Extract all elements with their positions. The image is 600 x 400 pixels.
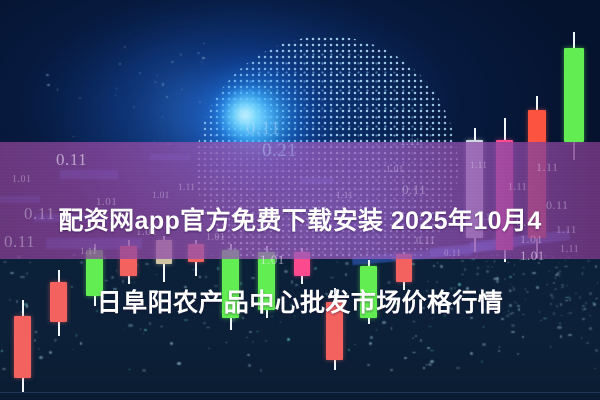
banner-image: 0.110.110.111.011.011.011.011.111.110.11…: [0, 0, 600, 400]
headline-line-1: 配资网app官方免费下载安装 2025年10月4: [0, 201, 600, 242]
ghost-number: 1.11: [400, 136, 421, 148]
ghost-number: 0.11: [246, 118, 281, 140]
ghost-number: 0.21: [262, 140, 297, 162]
page-title: 配资网app官方免费下载安装 2025年10月4 日阜阳农产品中心批发市场价格行…: [0, 160, 600, 365]
headline-line-2: 日阜阳农产品中心批发市场价格行情: [0, 283, 600, 324]
bottom-hairline: [0, 392, 600, 393]
